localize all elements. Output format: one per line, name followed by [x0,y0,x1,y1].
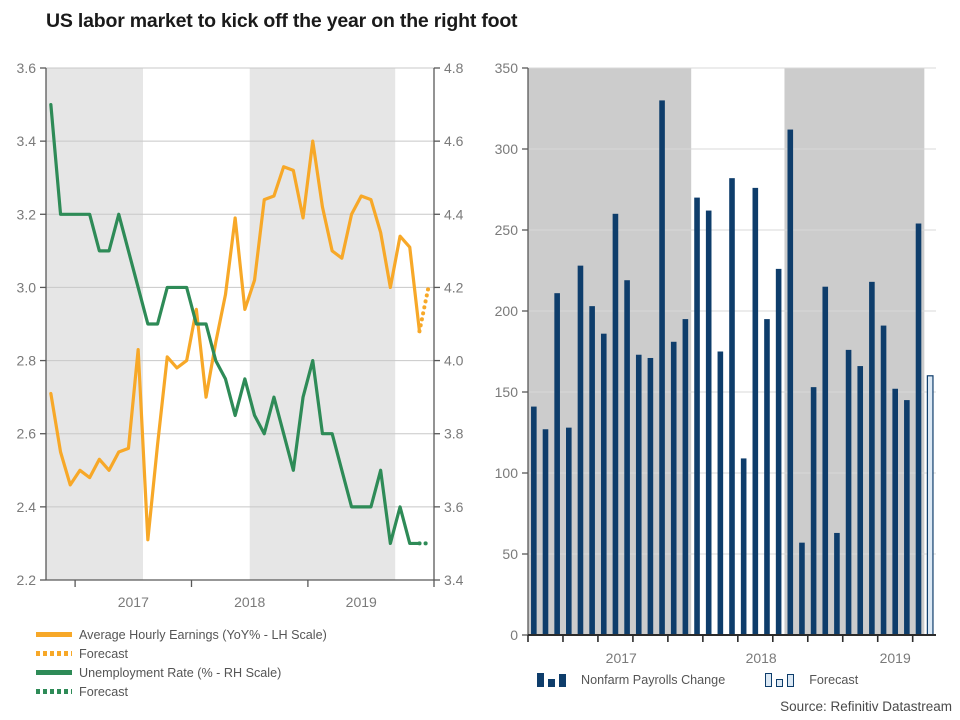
legend-dotted-line-swatch [36,651,72,656]
payrolls-bar [729,178,735,635]
payrolls-bar [916,224,922,635]
legend-label: Forecast [809,673,858,687]
y2-tick-label: 4.8 [444,60,464,76]
payrolls-bar [904,400,910,635]
x-tick-label: 2017 [606,650,637,666]
payrolls-bar [799,543,805,635]
payrolls-bar [554,293,560,635]
labor-lines-chart: 2.22.42.62.83.03.23.43.63.43.63.84.04.24… [0,60,480,660]
legend-item[interactable]: Nonfarm Payrolls Change [535,670,725,689]
legend-dotted-line-swatch [36,689,72,694]
y-tick-label: 3.6 [17,60,37,76]
payrolls-bar [671,342,677,635]
legend-item[interactable]: Forecast [36,682,327,701]
legend-item[interactable]: Average Hourly Earnings (YoY% - LH Scale… [36,625,327,644]
x-tick-label: 2018 [746,650,777,666]
payrolls-bar [718,352,724,636]
payrolls-bar [753,188,759,635]
shaded-band-0 [46,68,143,580]
y-tick-label: 50 [502,546,518,562]
payrolls-bar [892,389,898,635]
payrolls-bar [683,319,689,635]
legend-label: Forecast [79,647,128,661]
payrolls-bar [659,100,665,635]
y2-tick-label: 4.0 [444,353,464,369]
y-tick-label: 2.4 [17,499,37,515]
legend-row: Nonfarm Payrolls ChangeForecast [535,670,896,689]
x-tick-label: 2019 [346,594,377,610]
y-tick-label: 3.2 [17,206,37,222]
legend-solid-line-swatch [36,632,72,637]
payrolls-bar [589,306,595,635]
right-chart-panel: 050100150200250300350201720182019 Nonfar… [480,60,960,720]
y-tick-label: 350 [495,60,519,76]
payrolls-bar [624,280,630,635]
left-chart-legend: Average Hourly Earnings (YoY% - LH Scale… [36,625,327,701]
payrolls-bar [811,387,817,635]
y-tick-label: 0 [510,627,518,643]
payrolls-bar [869,282,875,635]
payrolls-bar [881,326,887,635]
y-tick-label: 250 [495,222,519,238]
shaded-band-0 [528,68,691,635]
legend-item[interactable]: Unemployment Rate (% - RH Scale) [36,663,327,682]
y-tick-label: 100 [495,465,519,481]
y2-tick-label: 3.8 [444,426,464,442]
source-note: Source: Refinitiv Datastream [780,699,952,714]
right-chart-legend: Nonfarm Payrolls ChangeForecast [535,670,896,689]
payrolls-bar [776,269,782,635]
y-tick-label: 150 [495,384,519,400]
legend-hollow-bars-swatch [763,673,801,687]
series-line [419,284,429,332]
shaded-band-1 [784,68,924,635]
legend-solid-line-swatch [36,670,72,675]
payrolls-bar [601,334,607,635]
payrolls-bar [636,355,642,635]
payrolls-bar [834,533,840,635]
y-tick-label: 3.4 [17,133,37,149]
y-tick-label: 300 [495,141,519,157]
payrolls-bar [694,198,700,635]
y-tick-label: 200 [495,303,519,319]
legend-solid-bars-swatch [535,673,573,687]
payrolls-bar [578,266,584,635]
x-tick-label: 2019 [880,650,911,666]
payrolls-bar [764,319,770,635]
y2-tick-label: 3.6 [444,499,464,515]
y-tick-label: 3.0 [17,279,37,295]
payrolls-bar [857,366,863,635]
payrolls-bar [846,350,852,635]
nonfarm-payrolls-chart: 050100150200250300350201720182019 [480,60,960,680]
payrolls-bar [613,214,619,635]
payrolls-bar [531,407,537,635]
payrolls-bar [566,428,572,635]
payrolls-bar [543,429,549,635]
payrolls-bar [706,211,712,635]
legend-label: Unemployment Rate (% - RH Scale) [79,666,281,680]
legend-label: Nonfarm Payrolls Change [581,673,725,687]
y-tick-label: 2.8 [17,353,37,369]
y2-tick-label: 4.6 [444,133,464,149]
legend-item[interactable]: Forecast [36,644,327,663]
payrolls-bar [648,358,654,635]
y2-tick-label: 3.4 [444,572,464,588]
y2-tick-label: 4.4 [444,206,464,222]
payrolls-bar [822,287,828,635]
y-tick-label: 2.6 [17,426,37,442]
legend-item[interactable]: Forecast [763,670,858,689]
x-tick-label: 2017 [118,594,149,610]
page-title: US labor market to kick off the year on … [46,10,517,33]
y-tick-label: 2.2 [17,572,37,588]
forecast-bar [927,376,933,635]
payrolls-bar [787,130,793,635]
x-tick-label: 2018 [234,594,265,610]
legend-label: Forecast [79,685,128,699]
y2-tick-label: 4.2 [444,279,464,295]
payrolls-bar [741,458,747,635]
left-chart-panel: 2.22.42.62.83.03.23.43.63.43.63.84.04.24… [0,60,480,720]
legend-label: Average Hourly Earnings (YoY% - LH Scale… [79,628,327,642]
